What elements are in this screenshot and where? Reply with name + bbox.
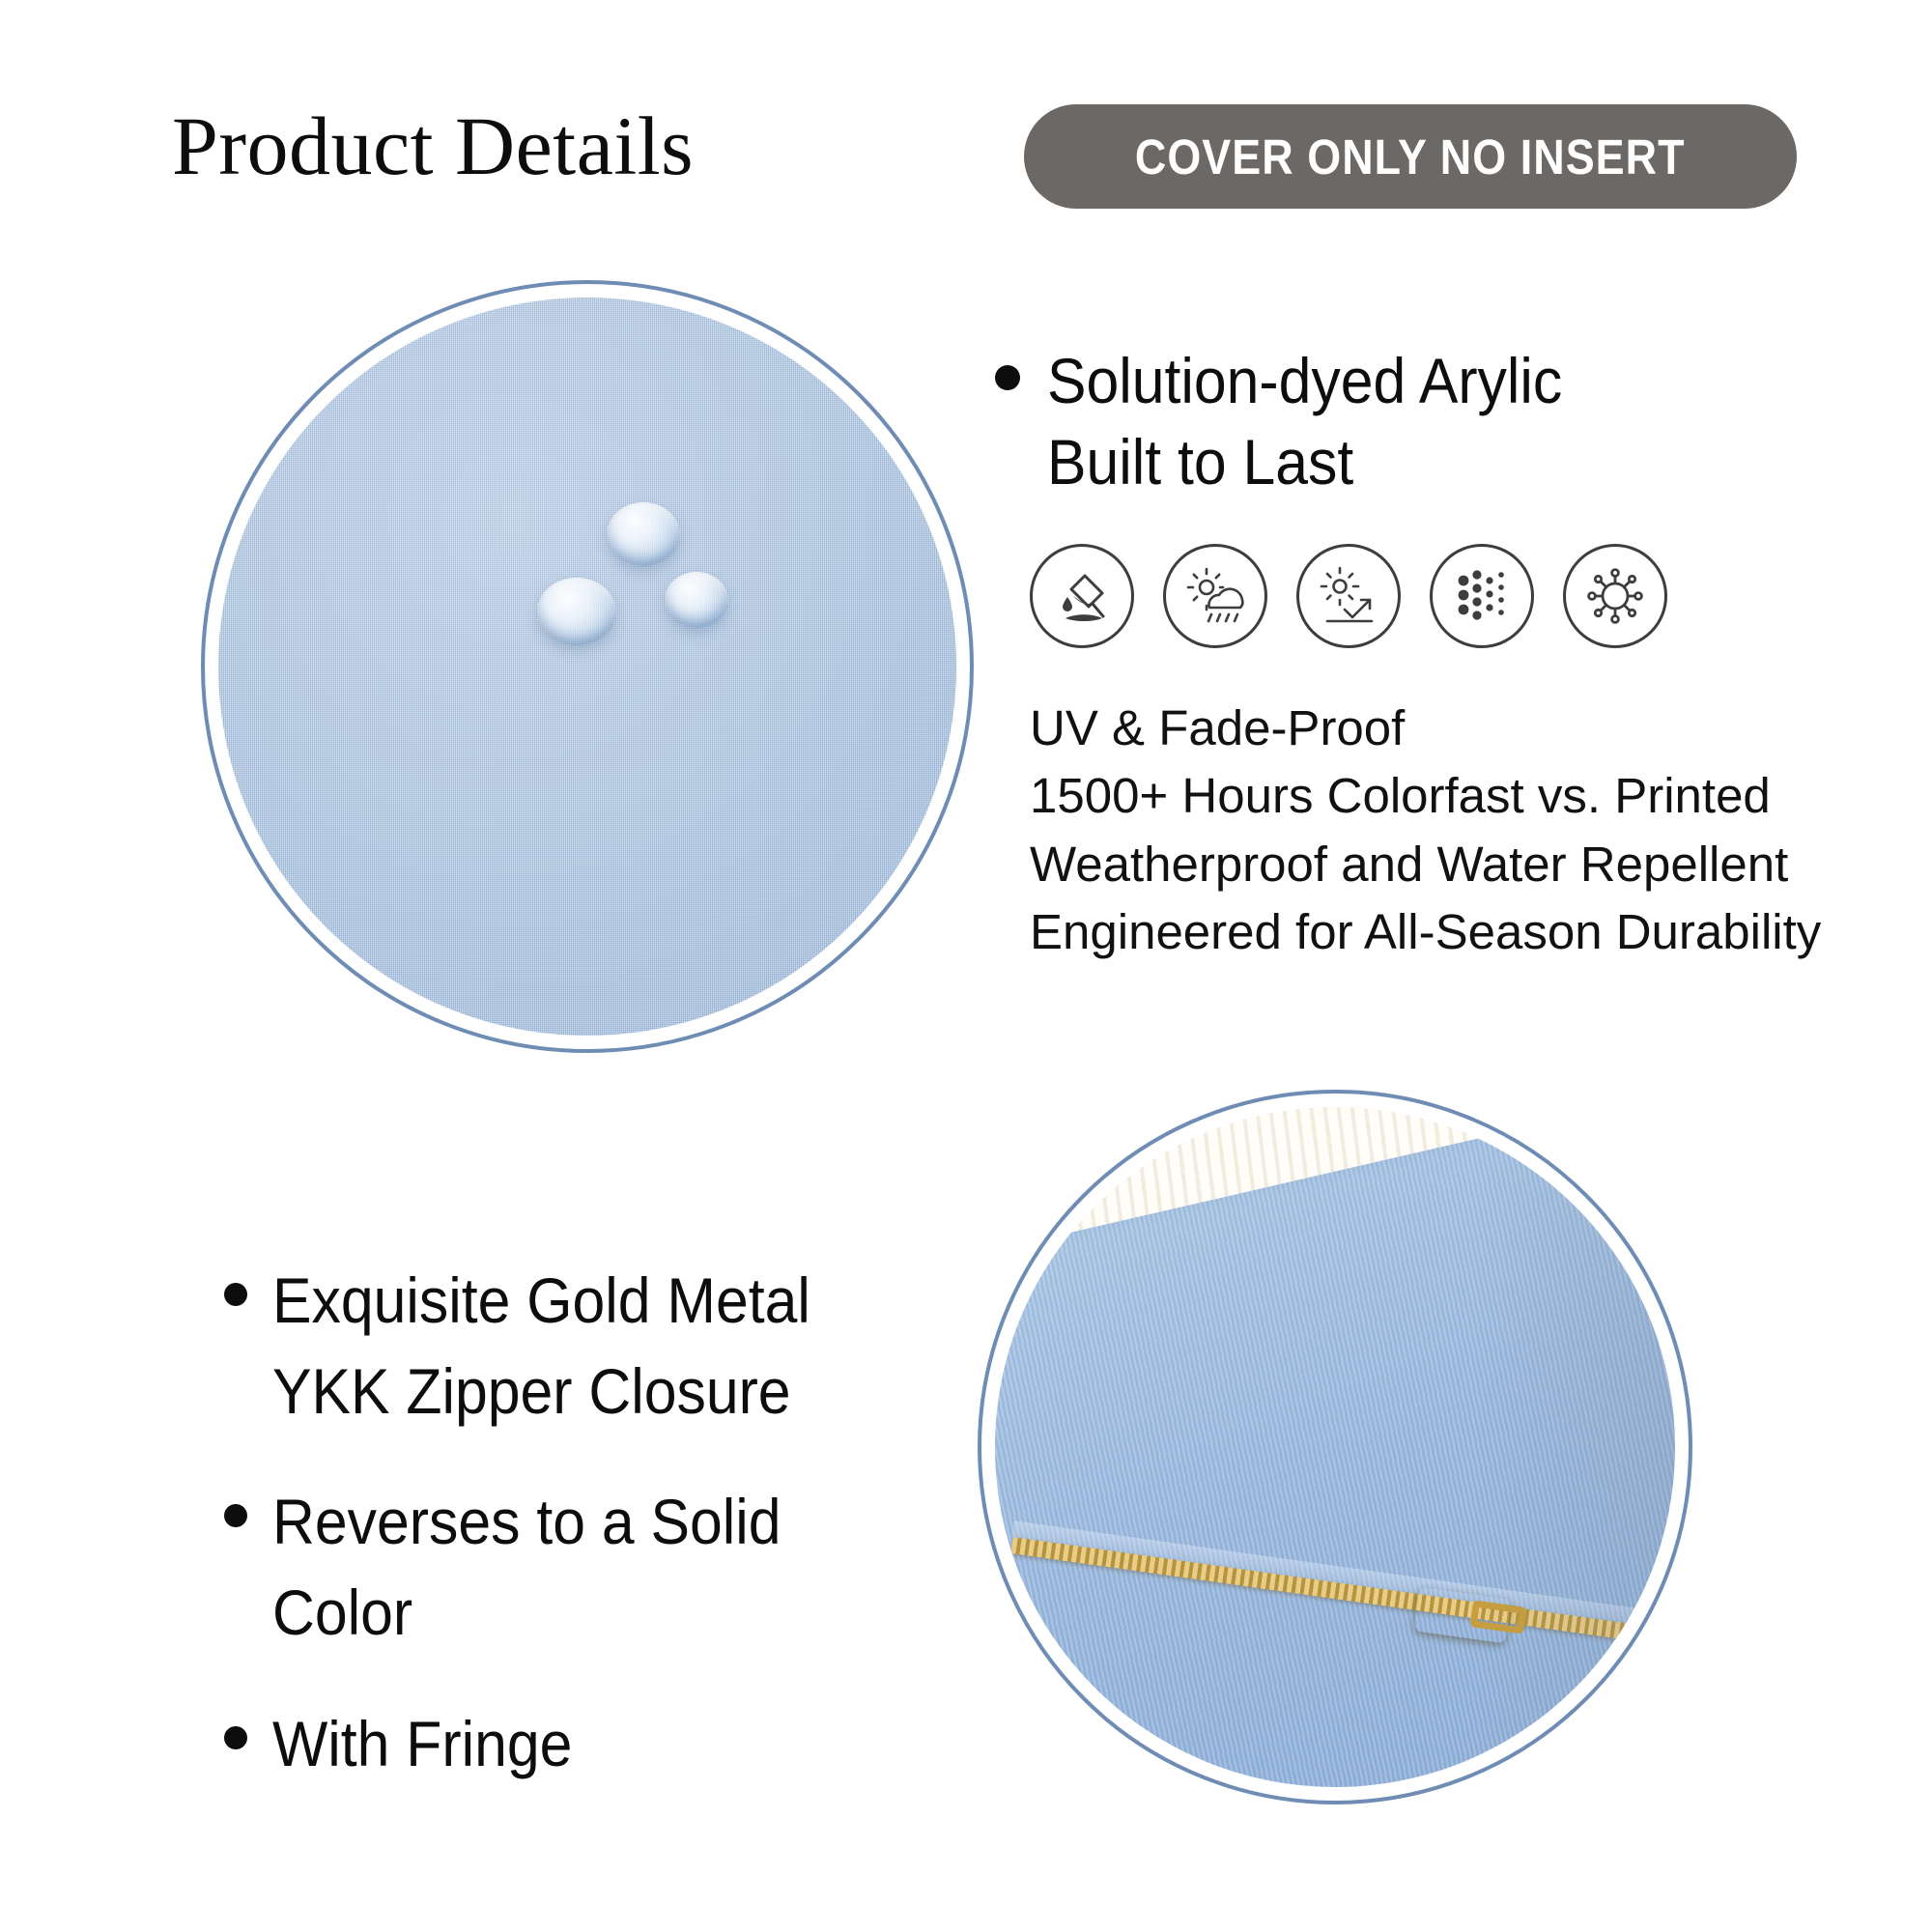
sun-chart-arrow-icon — [1296, 544, 1401, 648]
product-details-infographic: Product Details COVER ONLY NO INSERT Sol… — [0, 0, 1932, 1932]
fabric-photo-inner — [218, 298, 956, 1036]
cover-only-badge-label: COVER ONLY NO INSERT — [1135, 128, 1686, 185]
zipper-scene — [995, 1107, 1675, 1787]
water-droplet-icon — [665, 572, 728, 628]
zipper-photo-inner — [995, 1107, 1675, 1787]
bullet-dot-icon — [224, 1283, 247, 1306]
bullet-dot-icon — [224, 1726, 247, 1749]
water-beading-fabric-photo — [201, 280, 974, 1053]
durability-spec-list: UV & Fade-Proof 1500+ Hours Colorfast vs… — [1030, 695, 1893, 967]
bullet-dot-icon — [224, 1504, 247, 1527]
list-item: Reverses to a Solid Color — [224, 1477, 958, 1658]
feature-icon-row — [1030, 544, 1893, 648]
spec-line: 1500+ Hours Colorfast vs. Printed — [1030, 762, 1893, 830]
dot-gradient-icon — [1430, 544, 1534, 648]
water-droplet-icon — [537, 578, 616, 645]
feature-label: With Fringe — [272, 1699, 572, 1790]
gold-zipper-fringe-photo — [978, 1090, 1692, 1804]
feature-label: Exquisite Gold Metal YKK Zipper Closure — [272, 1256, 810, 1436]
durability-headline: Solution-dyed Arylic Built to Last — [995, 340, 1893, 503]
list-item: Exquisite Gold Metal YKK Zipper Closure — [224, 1256, 958, 1436]
sun-cloud-rain-icon — [1163, 544, 1267, 648]
feature-label: Reverses to a Solid Color — [272, 1477, 903, 1658]
feature-bullet-list: Exquisite Gold Metal YKK Zipper Closure … — [224, 1256, 958, 1831]
dye-pour-icon — [1030, 544, 1134, 648]
spec-line: Weatherproof and Water Repellent — [1030, 831, 1893, 898]
spec-line: UV & Fade-Proof — [1030, 695, 1893, 762]
cover-only-badge: COVER ONLY NO INSERT — [1024, 104, 1797, 209]
fabric-texture — [218, 298, 956, 1036]
water-droplet-icon — [607, 502, 680, 566]
page-title: Product Details — [172, 104, 694, 187]
durability-section: Solution-dyed Arylic Built to Last — [995, 340, 1893, 966]
durability-headline-text: Solution-dyed Arylic Built to Last — [1047, 340, 1562, 503]
bullet-dot-icon — [995, 365, 1020, 390]
spec-line: Engineered for All-Season Durability — [1030, 898, 1893, 966]
list-item: With Fringe — [224, 1699, 958, 1790]
microbe-icon — [1563, 544, 1667, 648]
photo-shadow — [1471, 1107, 1675, 1787]
